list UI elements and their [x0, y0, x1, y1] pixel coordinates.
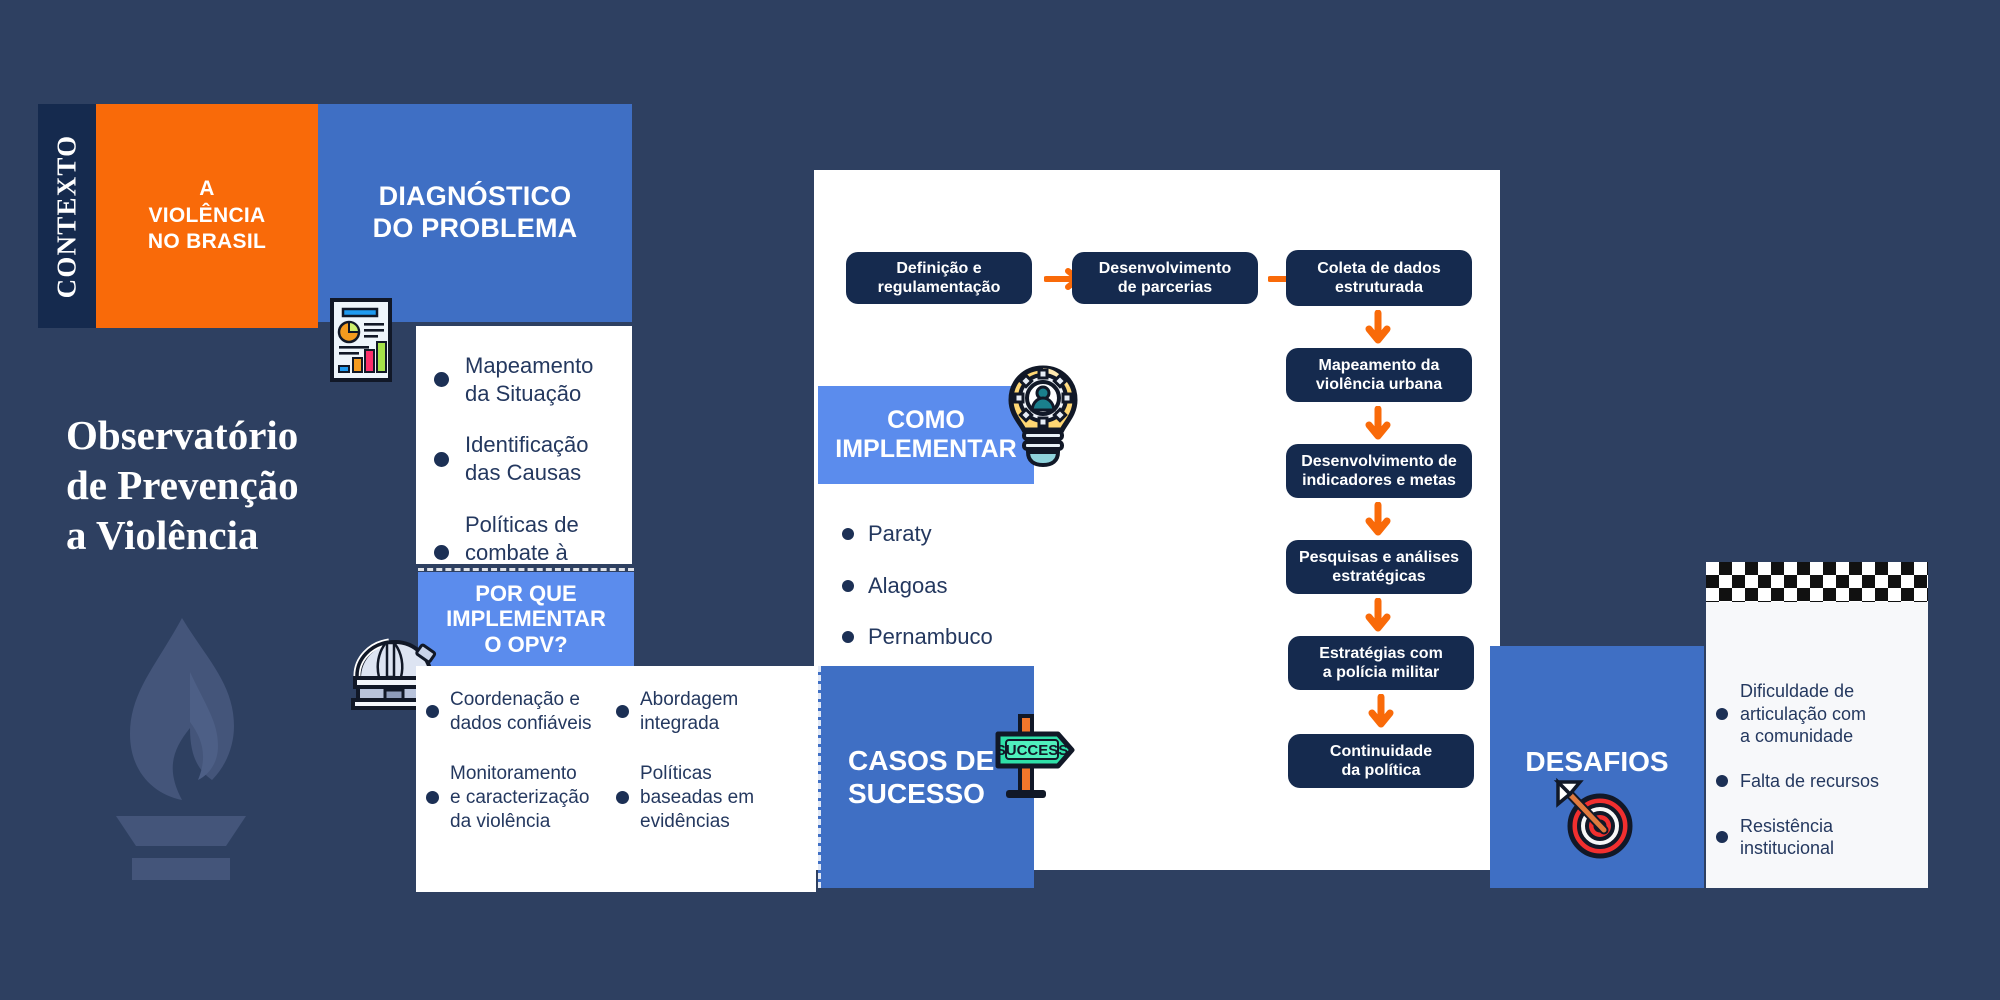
bullet-dot — [426, 791, 439, 804]
diagnostico-title-line-1: DIAGNÓSTICO — [373, 181, 578, 213]
bullet-dot — [1716, 775, 1728, 787]
infographic-canvas: CONTEXTO A VIOLÊNCIA NO BRASIL DIAGNÓSTI… — [0, 0, 2000, 1000]
flow-step-label: Continuidadeda política — [1330, 742, 1432, 780]
list-item-label: Abordagemintegrada — [640, 688, 738, 736]
violencia-headline: A VIOLÊNCIA NO BRASIL — [148, 176, 266, 257]
list-item[interactable]: Resistênciainstitucional — [1716, 815, 1914, 860]
list-item[interactable]: Monitoramentoe caracterizaçãoda violênci… — [426, 762, 616, 834]
list-item-label: Mapeamentoda Situação — [465, 352, 593, 407]
brand-title-line-2: de Prevenção — [66, 460, 446, 510]
brand-title-line-3: a Violência — [66, 510, 446, 560]
flow-step-label: Definição eregulamentação — [878, 259, 1001, 297]
diagnostico-list-panel: Mapeamentoda Situação Identificaçãodas C… — [416, 326, 632, 564]
list-item-label: Alagoas — [868, 572, 948, 600]
flow-step-parcerias[interactable]: Desenvolvimentode parcerias — [1072, 252, 1258, 304]
flow-step-label: Desenvolvimentode parcerias — [1099, 259, 1231, 297]
casos-left-divider — [818, 666, 821, 888]
flow-step-definicao[interactable]: Definição eregulamentação — [846, 252, 1032, 304]
list-item-label: Paraty — [868, 520, 932, 548]
flow-step-label: Estratégias coma polícia militar — [1319, 644, 1443, 682]
como-title-line-2: IMPLEMENTAR — [835, 435, 1016, 464]
diagnostico-title-line-2: DO PROBLEMA — [373, 213, 578, 245]
casos-title: CASOS DE SUCESSO — [848, 744, 994, 810]
bullet-dot — [434, 372, 449, 387]
bullet-dot — [842, 580, 854, 592]
lightbulb-gear-icon — [1006, 364, 1080, 470]
porque-title-line-3: O OPV? — [446, 632, 606, 658]
list-item[interactable]: Políticasbaseadas emevidências — [616, 762, 806, 834]
list-item-label: Resistênciainstitucional — [1740, 815, 1834, 860]
signpost-label: SUCCESS — [996, 742, 1069, 759]
list-item[interactable]: Dificuldade dearticulação coma comunidad… — [1716, 680, 1914, 748]
flow-step-continuidade[interactable]: Continuidadeda política — [1288, 734, 1474, 788]
success-signpost-icon: SUCCESS — [976, 706, 1082, 802]
bullet-dot — [426, 705, 439, 718]
desafios-card: Dificuldade dearticulação coma comunidad… — [1706, 562, 1928, 888]
list-item[interactable]: Abordagemintegrada — [616, 688, 806, 736]
flow-step-label: Desenvolvimento deindicadores e metas — [1301, 452, 1457, 490]
casos-title-line-2: SUCESSO — [848, 777, 994, 810]
bullet-dot — [842, 528, 854, 540]
contexto-vertical-label: CONTEXTO — [52, 134, 83, 298]
flow-step-coleta[interactable]: Coleta de dadosestruturada — [1286, 250, 1472, 306]
list-item[interactable]: Mapeamentoda Situação — [434, 352, 632, 407]
list-item-label: Falta de recursos — [1740, 770, 1879, 793]
flow-step-label: Pesquisas e análisesestratégicas — [1299, 548, 1459, 586]
bullet-dot — [842, 631, 854, 643]
bullet-dot — [1716, 708, 1728, 720]
porque-top-divider — [418, 568, 634, 571]
porque-title-line-1: POR QUE — [446, 581, 606, 607]
target-dart-icon — [1548, 770, 1644, 862]
list-item[interactable]: Pernambuco — [842, 623, 1034, 651]
arrow-down-icon — [1363, 406, 1393, 444]
porque-title-line-2: IMPLEMENTAR — [446, 606, 606, 632]
bullet-dot — [616, 791, 629, 804]
como-list-panel: Paraty Alagoas Pernambuco — [818, 484, 1034, 666]
bullet-dot — [616, 705, 629, 718]
page-title: Observatório de Prevenção a Violência — [66, 410, 446, 560]
torch-flame-icon — [86, 610, 276, 880]
porque-title: POR QUE IMPLEMENTAR O OPV? — [446, 581, 606, 658]
violencia-line-2: VIOLÊNCIA — [148, 203, 266, 230]
list-item[interactable]: Identificaçãodas Causas — [434, 431, 632, 486]
flow-step-estrategias[interactable]: Estratégias coma polícia militar — [1288, 636, 1474, 690]
bullet-dot — [1716, 831, 1728, 843]
flow-step-mapeamento[interactable]: Mapeamento daviolência urbana — [1286, 348, 1472, 402]
arrow-down-icon — [1363, 598, 1393, 636]
brand-title-line-1: Observatório — [66, 410, 446, 460]
list-item[interactable]: Paraty — [842, 520, 1034, 548]
como-title-line-1: COMO — [835, 406, 1016, 435]
flow-step-label: Coleta de dadosestruturada — [1317, 259, 1441, 297]
diagnostico-title: DIAGNÓSTICO DO PROBLEMA — [373, 181, 578, 245]
casos-top-divider — [818, 663, 1034, 666]
violencia-line-1: A — [148, 176, 266, 203]
como-implementar-header: COMO IMPLEMENTAR — [818, 386, 1034, 484]
list-item-label: Políticasbaseadas emevidências — [640, 762, 754, 834]
flow-step-indicadores[interactable]: Desenvolvimento deindicadores e metas — [1286, 444, 1472, 498]
list-item-label: Dificuldade dearticulação coma comunidad… — [1740, 680, 1866, 748]
list-item-label: Coordenação edados confiáveis — [450, 688, 592, 736]
arrow-down-icon — [1366, 694, 1396, 732]
list-item-label: Monitoramentoe caracterizaçãoda violênci… — [450, 762, 589, 834]
contexto-side-band: CONTEXTO — [38, 104, 96, 328]
porque-implementar-header: POR QUE IMPLEMENTAR O OPV? — [418, 572, 634, 666]
diagnostico-header: DIAGNÓSTICO DO PROBLEMA — [318, 104, 632, 322]
checker-pattern-strip — [1706, 562, 1928, 602]
list-item-label: Pernambuco — [868, 623, 993, 651]
casos-title-line-1: CASOS DE — [848, 744, 994, 777]
como-title: COMO IMPLEMENTAR — [835, 406, 1016, 464]
violencia-no-brasil-block: A VIOLÊNCIA NO BRASIL — [96, 104, 318, 328]
como-top-divider — [818, 383, 1034, 386]
list-item-label: Identificaçãodas Causas — [465, 431, 589, 486]
arrow-down-icon — [1363, 502, 1393, 540]
list-item[interactable]: Falta de recursos — [1716, 770, 1914, 793]
violencia-line-3: NO BRASIL — [148, 229, 266, 256]
flow-step-pesquisas[interactable]: Pesquisas e análisesestratégicas — [1286, 540, 1472, 594]
arrow-down-icon — [1363, 310, 1393, 348]
porque-list-panel: Coordenação edados confiáveis Abordagemi… — [416, 666, 816, 892]
report-chart-icon — [330, 298, 392, 382]
list-item[interactable]: Coordenação edados confiáveis — [426, 688, 616, 736]
list-item[interactable]: Alagoas — [842, 572, 1034, 600]
flow-step-label: Mapeamento daviolência urbana — [1316, 356, 1442, 394]
